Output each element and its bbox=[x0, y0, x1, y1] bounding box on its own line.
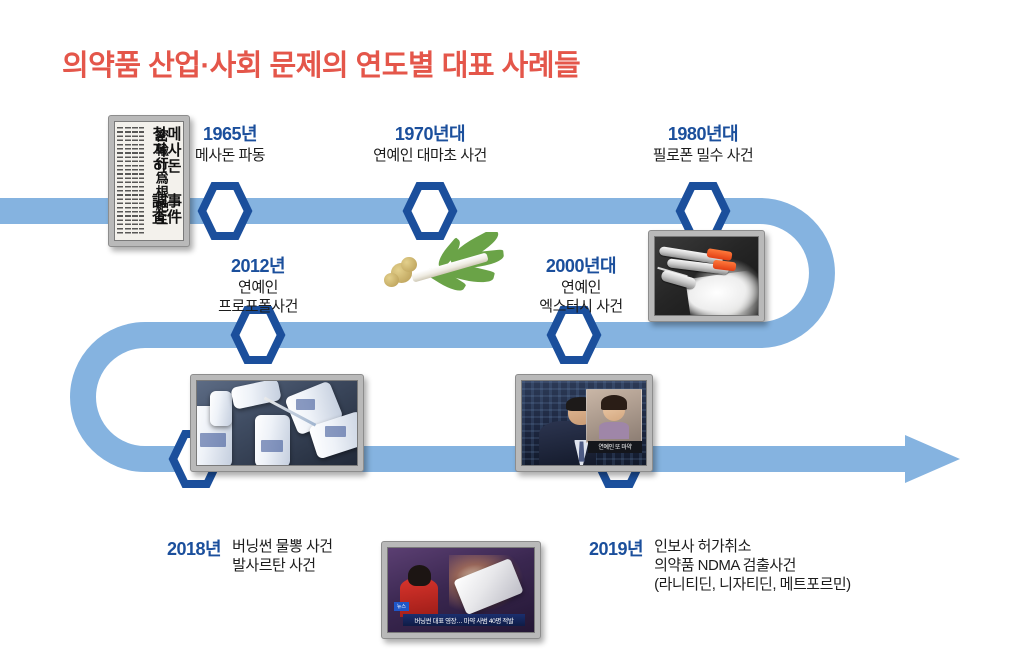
broadcast-tag: 뉴스 bbox=[394, 602, 409, 611]
event-desc-2000s-line1: 연예인 bbox=[503, 278, 659, 297]
broadcast-ticker: 버닝썬 대표 영장… 마약 사범 40명 적발 bbox=[403, 614, 526, 627]
event-label-2012[interactable]: 2012년 연예인 프로포폴사건 bbox=[188, 255, 328, 316]
event-desc-2019-line3: (라니티딘, 니자티딘, 메트포르민) bbox=[654, 575, 851, 594]
photo-cannabis-1970s[interactable] bbox=[378, 232, 504, 314]
marker-hexagon-1965[interactable] bbox=[202, 186, 248, 236]
broadcast-caption: 연예인 또 마약 bbox=[588, 441, 643, 454]
newspaper-text-column bbox=[132, 127, 138, 237]
propofol-vial bbox=[210, 391, 232, 426]
event-desc-2012-line2: 프로포폴사건 bbox=[188, 297, 328, 316]
event-desc-2019-line1: 인보사 허가취소 bbox=[654, 537, 851, 556]
vial-label bbox=[261, 440, 283, 452]
event-label-1970s[interactable]: 1970년대 연예인 대마초 사건 bbox=[340, 123, 520, 165]
newspaper-text-column bbox=[139, 127, 144, 237]
event-desc-1970s: 연예인 대마초 사건 bbox=[340, 146, 520, 165]
event-label-2019[interactable]: 2019년 인보사 허가취소 의약품 NDMA 검출사건 (라니티딘, 니자티딘… bbox=[589, 537, 851, 595]
broadcast-inset-photo bbox=[586, 389, 643, 443]
marker-hexagon-2012[interactable] bbox=[235, 310, 281, 360]
cannabis-bud bbox=[384, 273, 399, 287]
event-label-1980s[interactable]: 1980년대 필로폰 밀수 사건 bbox=[613, 123, 793, 165]
marker-hexagon-2000s[interactable] bbox=[551, 310, 597, 360]
newspaper-text-column bbox=[117, 127, 123, 237]
event-year-1970s: 1970년대 bbox=[340, 123, 520, 146]
inset-dress bbox=[599, 422, 630, 440]
cannabis-bud bbox=[401, 257, 417, 273]
event-desc-1980s: 필로폰 밀수 사건 bbox=[613, 146, 793, 165]
event-year-2019: 2019년 bbox=[589, 537, 643, 561]
newspaper-text-column bbox=[125, 127, 131, 237]
event-year-2000s: 2000년대 bbox=[503, 255, 659, 278]
reporter-hair bbox=[408, 565, 431, 586]
event-label-2000s[interactable]: 2000년대 연예인 엑스터시 사건 bbox=[503, 255, 659, 316]
marker-hexagon-1980s[interactable] bbox=[680, 186, 726, 236]
event-desc-2012-line1: 연예인 bbox=[188, 278, 328, 297]
event-label-2018[interactable]: 2018년 버닝썬 물뽕 사건 발사르탄 사건 bbox=[167, 537, 333, 575]
timeline-arrowhead bbox=[905, 435, 960, 483]
event-year-2012: 2012년 bbox=[188, 255, 328, 278]
photo-propofol-2012[interactable] bbox=[190, 374, 364, 472]
photo-burningsun-2018[interactable]: 뉴스 버닝썬 대표 영장… 마약 사범 40명 적발 bbox=[381, 541, 541, 639]
photo-philopon-1980s[interactable] bbox=[648, 230, 765, 322]
marker-hexagon-1970s[interactable] bbox=[407, 186, 453, 236]
event-desc-2018-line2: 발사르탄 사건 bbox=[232, 556, 332, 575]
vial-label bbox=[296, 399, 315, 409]
event-year-2018: 2018년 bbox=[167, 537, 221, 561]
vial-label bbox=[200, 433, 226, 446]
timeline-infographic: 의약품 산업·사회 문제의 연도별 대표 사례들 bbox=[0, 0, 1024, 652]
inset-hair bbox=[601, 395, 627, 411]
photo-newspaper-1965[interactable]: 메사돈 事件 철저히 調査 密輸行爲根絶도 bbox=[108, 115, 190, 247]
event-desc-2018-line1: 버닝썬 물뽕 사건 bbox=[232, 537, 332, 556]
photo-broadcast-2000s[interactable]: 연예인 또 마약 bbox=[515, 374, 653, 472]
vial-label bbox=[325, 426, 346, 437]
event-desc-2000s-line2: 엑스터시 사건 bbox=[503, 297, 659, 316]
event-desc-2019-line2: 의약품 NDMA 검출사건 bbox=[654, 556, 851, 575]
event-year-1980s: 1980년대 bbox=[613, 123, 793, 146]
newspaper-headline-sub: 密輸行爲根絶도 bbox=[154, 129, 167, 227]
